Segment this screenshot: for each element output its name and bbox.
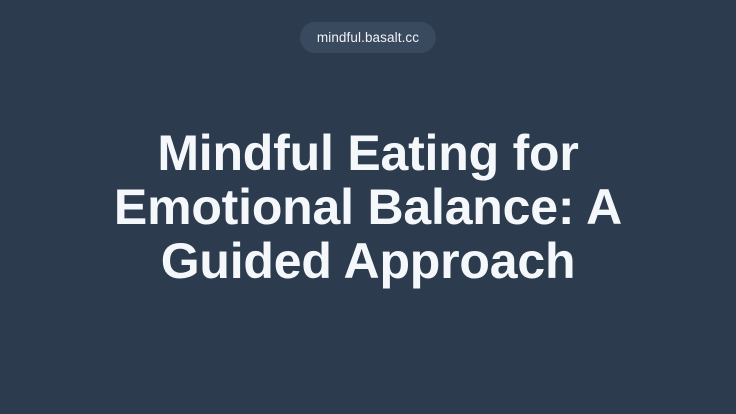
domain-badge-label: mindful.basalt.cc [317, 31, 419, 45]
domain-badge: mindful.basalt.cc [300, 22, 436, 53]
page-title: Mindful Eating for Emotional Balance: A … [48, 126, 688, 288]
headline-container: Mindful Eating for Emotional Balance: A … [0, 0, 736, 414]
social-share-card: mindful.basalt.cc Mindful Eating for Emo… [0, 0, 736, 414]
